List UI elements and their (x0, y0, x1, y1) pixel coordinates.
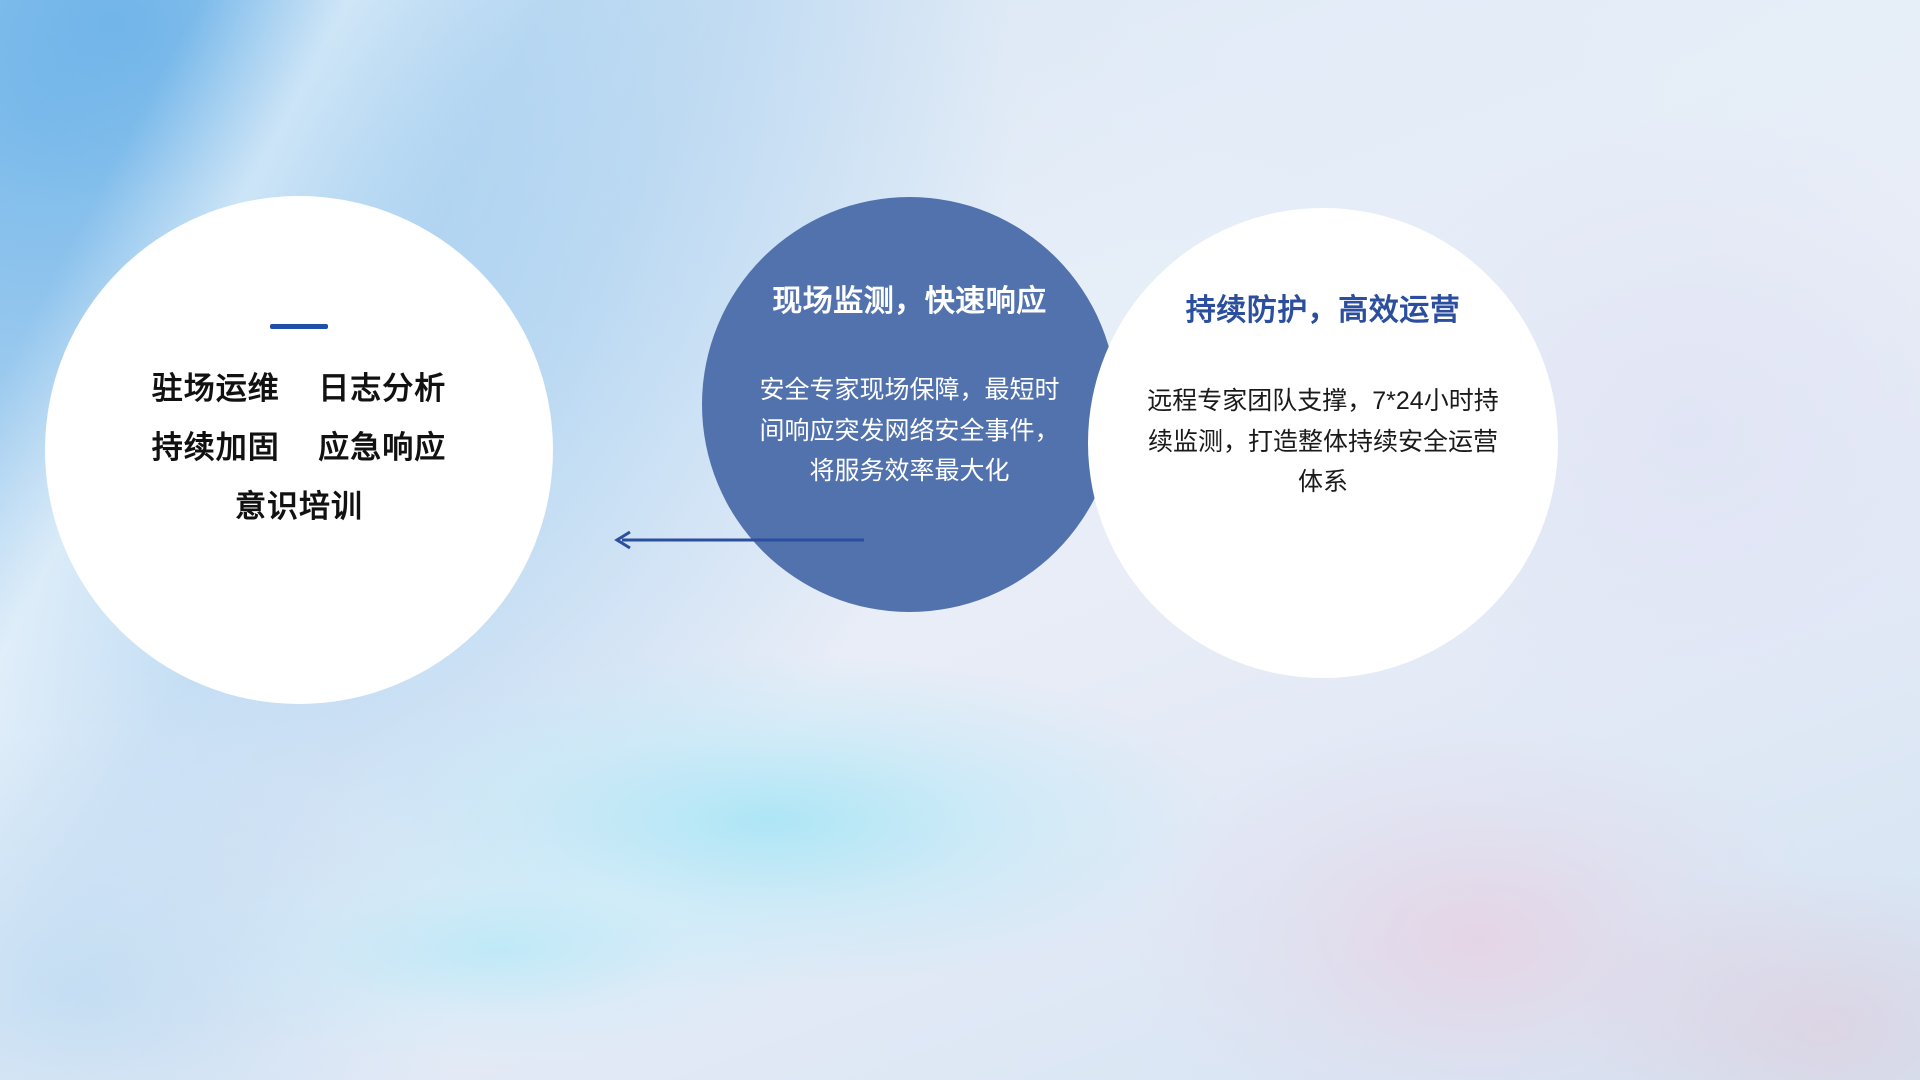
right-circle-title: 持续防护，高效运营 (1186, 294, 1461, 327)
right-circle-body-text: 远程专家团队支撑，7*24小时持续监测，打造整体持续安全运营体系 (1143, 381, 1503, 503)
leftward-arrow-icon (608, 526, 866, 554)
left-circle-line-3: 意识培训 (152, 491, 446, 522)
middle-circle-title: 现场监测，快速响应 (772, 285, 1047, 318)
right-circle-continuous-protection[interactable]: 持续防护，高效运营 远程专家团队支撑，7*24小时持续监测，打造整体持续安全运营… (1088, 208, 1558, 678)
left-circle-line-1: 驻场运维 日志分析 (152, 373, 446, 404)
middle-circle-body-text: 安全专家现场保障，最短时间响应突发网络安全事件，将服务效率最大化 (760, 370, 1060, 492)
divider-line (270, 324, 328, 329)
slide-canvas: 现场监测，快速响应 安全专家现场保障，最短时间响应突发网络安全事件，将服务效率最… (0, 0, 1920, 1080)
left-circle-service-capabilities[interactable]: 驻场运维 日志分析 持续加固 应急响应 意识培训 (45, 196, 553, 704)
left-circle-line-2: 持续加固 应急响应 (152, 432, 446, 463)
left-circle-text-block: 驻场运维 日志分析 持续加固 应急响应 意识培训 (152, 373, 446, 522)
